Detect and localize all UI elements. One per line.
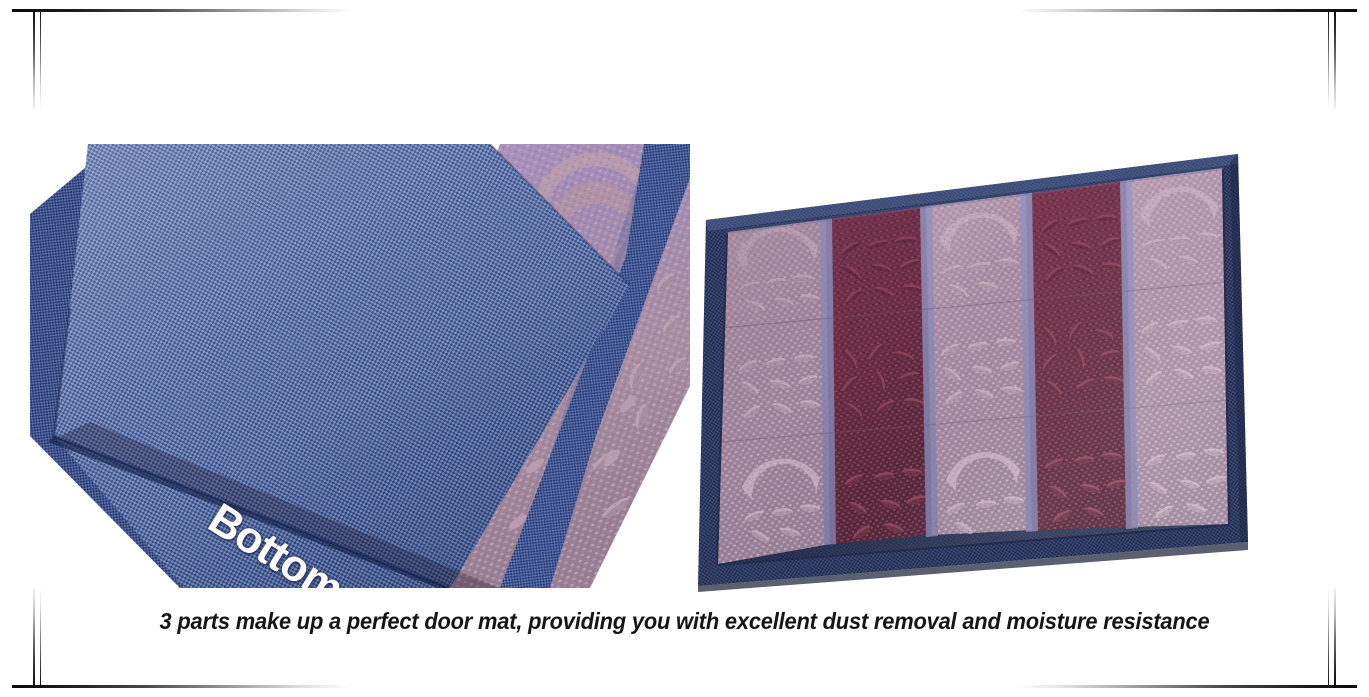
infographic-canvas: Bottom Surface Frame	[0, 0, 1369, 697]
bracket-horizontal-rule-icon	[12, 9, 352, 12]
caption-text: 3 parts make up a perfect door mat, prov…	[48, 608, 1321, 635]
bracket-vertical-rule-icon	[33, 588, 35, 688]
bracket-vertical-rule-thin-icon	[1328, 9, 1329, 109]
corner-bracket-top-right	[1169, 0, 1369, 120]
full-mat-illustration	[692, 152, 1258, 592]
bracket-vertical-rule-thin-icon	[40, 9, 41, 109]
full-mat-photo	[692, 152, 1258, 592]
bracket-vertical-rule-thin-icon	[1328, 588, 1329, 688]
bracket-horizontal-rule-icon	[1017, 9, 1357, 12]
bracket-vertical-rule-thin-icon	[40, 588, 41, 688]
bracket-vertical-rule-icon	[1334, 9, 1336, 109]
folded-mat-illustration	[30, 136, 690, 588]
corner-bracket-bottom-left	[0, 577, 200, 697]
bracket-vertical-rule-icon	[33, 9, 35, 109]
corner-bracket-top-left	[0, 0, 200, 120]
folded-mat-corner-photo: Bottom Surface Frame	[30, 136, 690, 588]
corner-bracket-bottom-right	[1169, 577, 1369, 697]
bracket-horizontal-rule-icon	[1017, 685, 1357, 688]
bracket-horizontal-rule-icon	[12, 685, 352, 688]
bracket-vertical-rule-icon	[1334, 588, 1336, 688]
